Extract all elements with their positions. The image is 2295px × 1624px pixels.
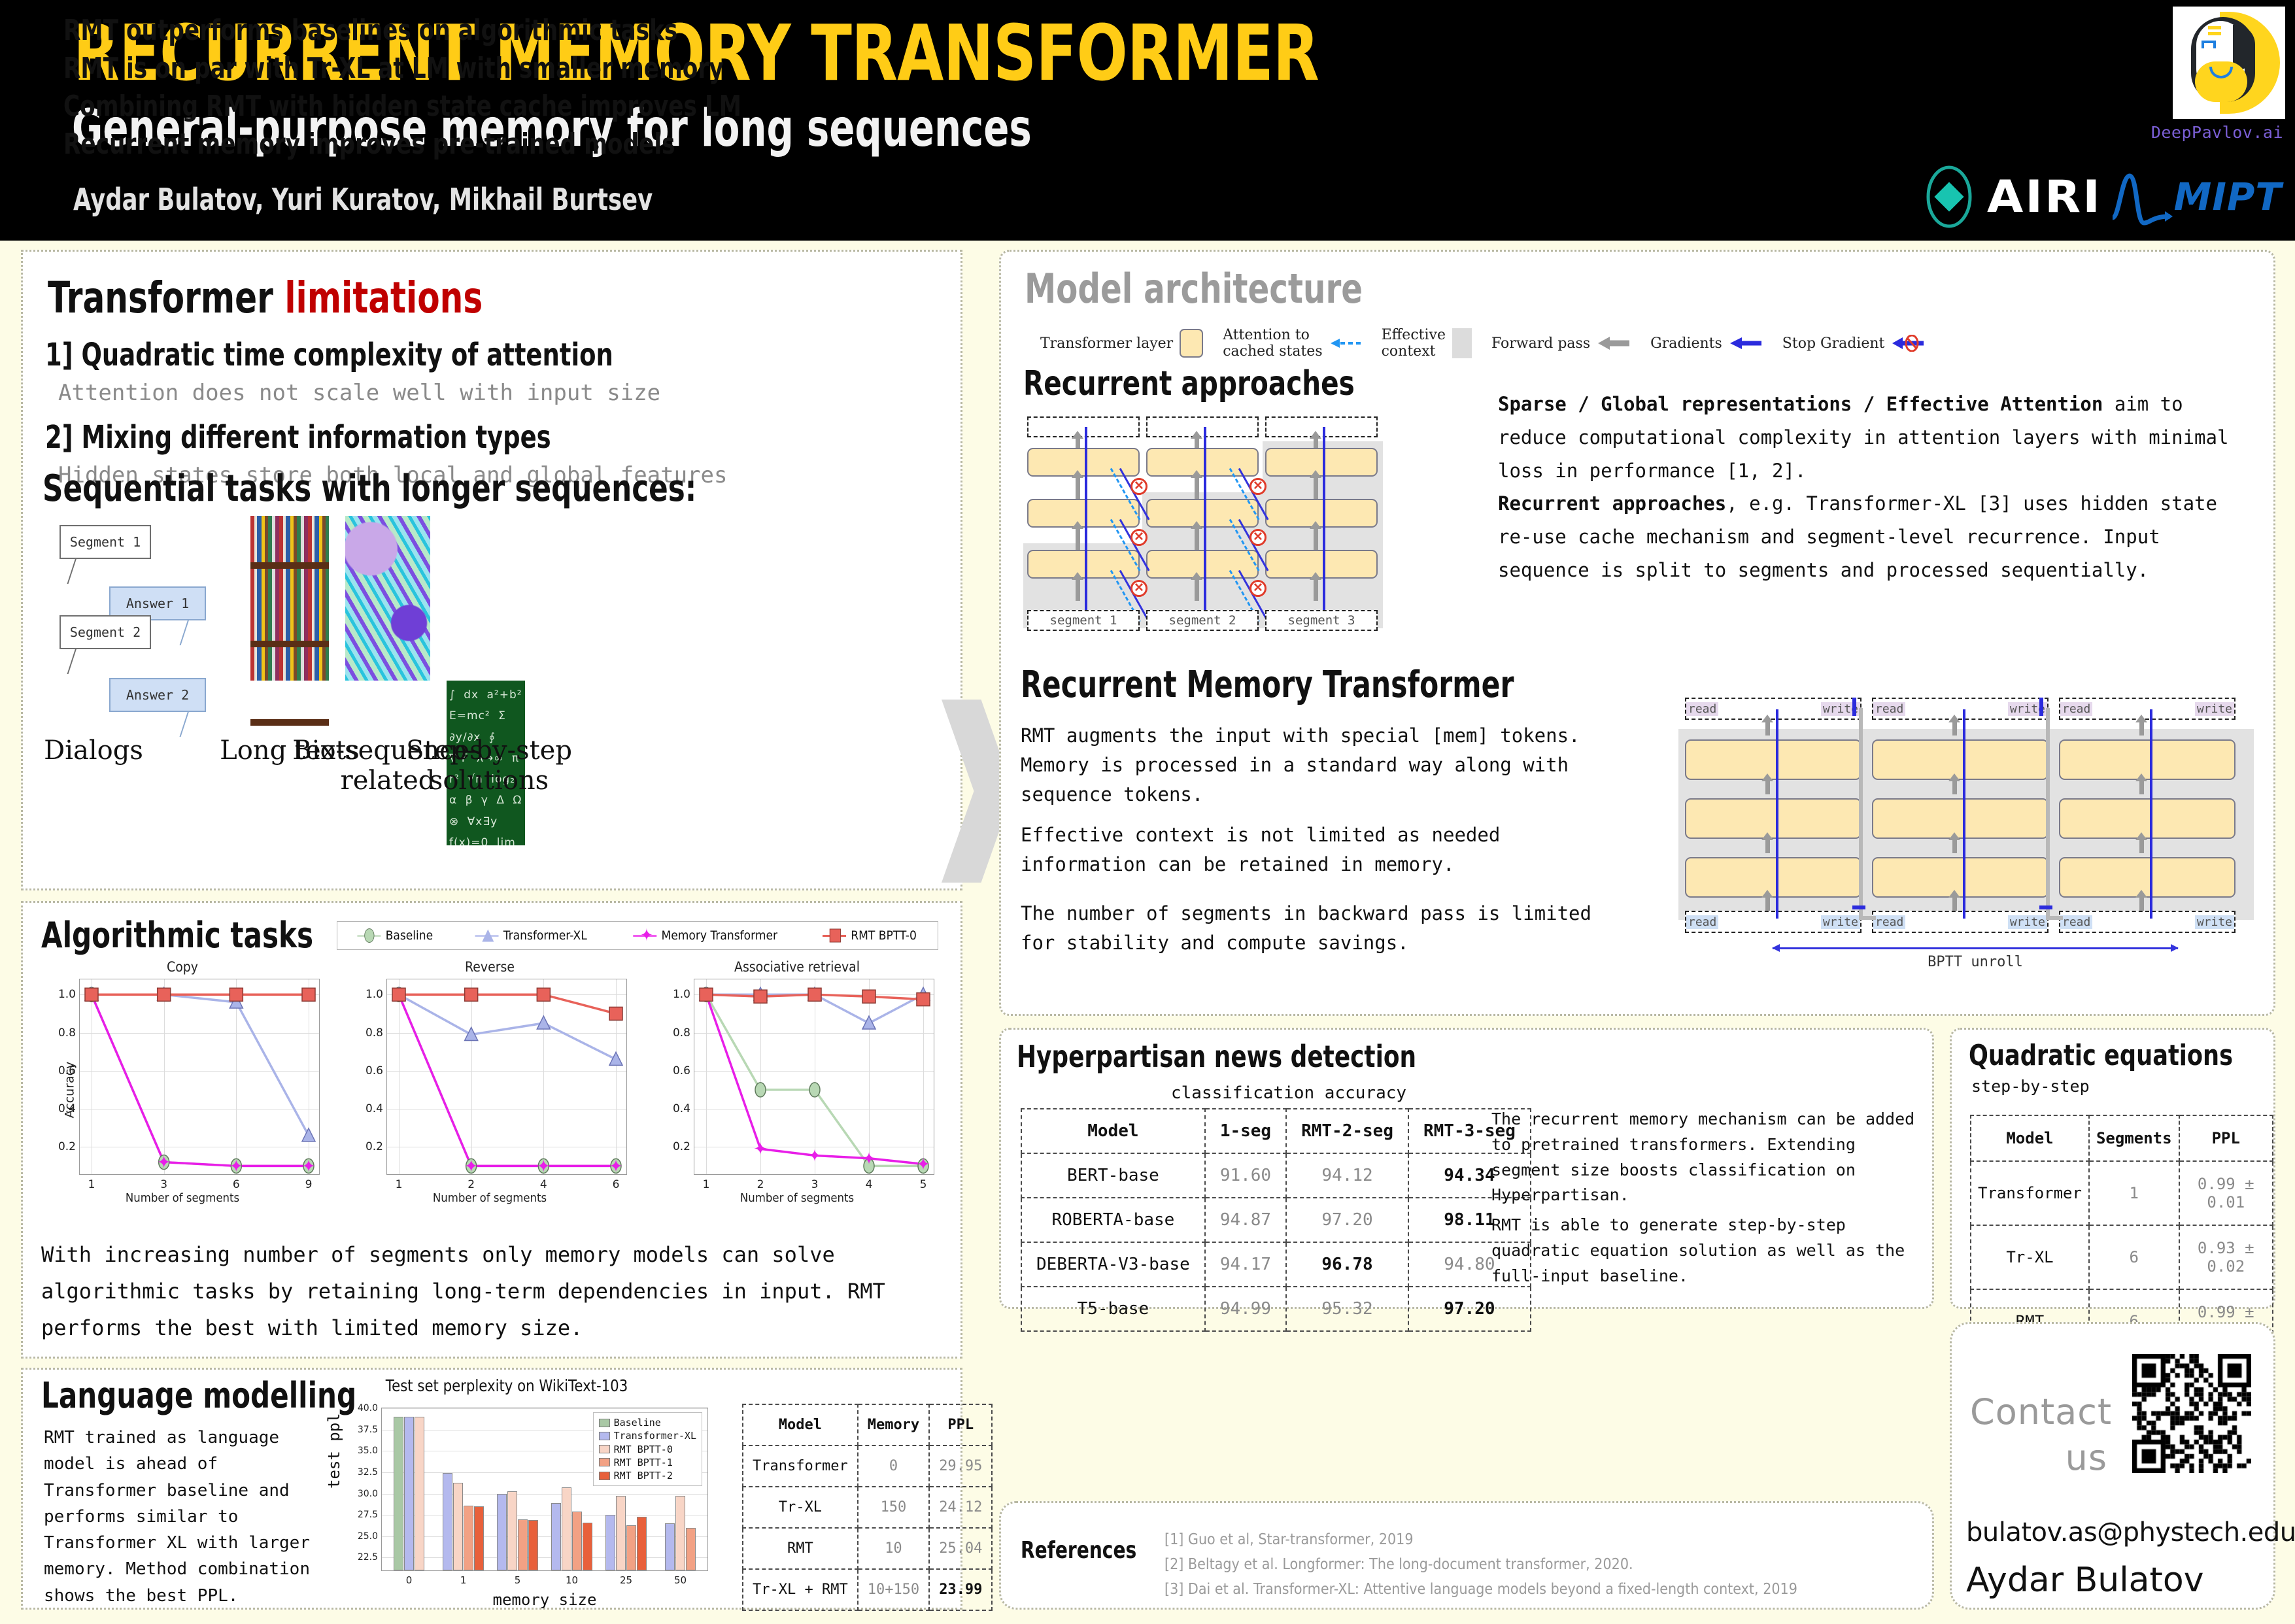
svg-text:✦: ✦	[753, 1139, 768, 1159]
forward-arrow	[1195, 528, 1199, 550]
x-tick-label: 9	[305, 1178, 313, 1191]
table-cell: RMT	[743, 1528, 858, 1569]
chart-title: Associative retrieval	[668, 959, 926, 975]
arch-desc-bold-2: Recurrent approaches	[1498, 492, 1726, 515]
table-cell: 96.78	[1286, 1242, 1408, 1287]
bar-rmt-bptt-0	[415, 1417, 424, 1570]
svg-text:✦: ✦	[464, 1156, 479, 1176]
table-cell: 94.17	[1205, 1242, 1286, 1287]
y-tick-label: 0.6	[673, 1064, 690, 1077]
qr-code-icon[interactable]	[2132, 1354, 2251, 1473]
y-tick-label: 1.0	[673, 988, 690, 1001]
output-box-3	[1265, 416, 1378, 437]
x-tick-label: 25	[620, 1574, 632, 1586]
table-cell: 10	[858, 1528, 929, 1569]
bar-transformer-xl	[551, 1503, 561, 1570]
legend-label-memory-transformer: Memory Transformer	[662, 928, 778, 943]
memory-cell-top-3: readwrite	[2059, 698, 2235, 720]
legend-transformer-layer: Transformer layer	[1040, 329, 1203, 358]
bar-rmt-bptt-0	[562, 1487, 571, 1570]
table-body: Transformer029.95Tr-XL15024.12RMT1025.04…	[743, 1446, 992, 1610]
y-tick-label: 1.0	[58, 988, 76, 1001]
bar-baseline	[394, 1417, 403, 1570]
caption-step-by-step: Step-by-step solutions	[391, 736, 587, 796]
limitation-1-heading: 1] Quadratic time complexity of attentio…	[45, 337, 613, 373]
bar-rmt-bptt-1	[626, 1525, 636, 1570]
legend-item-baseline: Baseline	[358, 928, 433, 943]
lm-bar-chart: 22.525.027.530.032.535.037.540.001510255…	[381, 1408, 708, 1571]
forward-arrow	[1076, 579, 1080, 601]
legend-item-transformer-xl: Transformer-XL	[475, 928, 587, 943]
table-row: Tr-XL + RMT10+15023.99	[743, 1569, 992, 1610]
forward-arrow	[1076, 437, 1080, 448]
y-tick-label: 0.6	[365, 1064, 383, 1077]
legend-attention-cached: Attention to cached states	[1223, 327, 1361, 360]
series-layer: ✦✦✦✦	[387, 979, 628, 1176]
forward-arrow	[1195, 437, 1199, 448]
forward-arrow	[1076, 477, 1080, 499]
table-head: ModelMemoryPPL	[743, 1404, 992, 1446]
memory-cell-bottom-2: readwrite	[1872, 911, 2048, 933]
language-modelling-text: RMT trained as language model is ahead o…	[44, 1425, 318, 1609]
language-modelling-panel: Language modelling RMT trained as langua…	[21, 1368, 962, 1610]
table-body: BERT-base91.6094.1294.34ROBERTA-base94.8…	[1021, 1153, 1531, 1331]
table-row: Tr-XL60.93 ± 0.02	[1971, 1225, 2273, 1289]
y-tick-label: 27.5	[358, 1510, 378, 1520]
rmt-gradient-line	[1963, 709, 1965, 919]
legend-label-baseline: Baseline	[386, 928, 433, 943]
reference-item-3: [3] Dai et al. Transformer-XL: Attentive…	[1164, 1578, 1841, 1602]
x-tick-label: 3	[811, 1178, 819, 1191]
lm-legend-swatch	[599, 1445, 610, 1453]
legend-item-rmt-bptt0: RMT BPTT-0	[823, 928, 917, 943]
legend-effective-line1: Effective	[1382, 327, 1446, 343]
algorithmic-note: With increasing number of segments only …	[41, 1236, 943, 1346]
transformer-limitations-panel: Transformer limitations 1] Quadratic tim…	[21, 250, 962, 890]
svg-text:✦: ✦	[807, 1145, 822, 1165]
poster-root: RECURRENT MEMORY TRANSFORMER General-pur…	[0, 0, 2295, 1624]
memory-cell-top-1: readwrite	[1685, 698, 1861, 720]
legend-forward-pass-label: Forward pass	[1491, 335, 1590, 352]
svg-text:✦: ✦	[916, 1155, 930, 1174]
plot-area: 0.20.40.60.81.01369✦✦✦✦	[79, 979, 320, 1175]
conclusion-text-1: RMT outperforms baselines on algorithmic…	[63, 14, 677, 47]
y-tick-label: 0.2	[365, 1140, 383, 1153]
contact-panel: Contact us bulatov.as@phystech.edu Aydar…	[1950, 1322, 2275, 1610]
chart-title: Reverse	[360, 959, 619, 975]
bar-rmt-bptt-2	[474, 1506, 484, 1570]
forward-arrow	[1314, 437, 1318, 448]
table-cell: Transformer	[743, 1446, 858, 1487]
lm-results-table: ModelMemoryPPLTransformer029.95Tr-XL1502…	[742, 1404, 993, 1611]
rmt-forward-arrow	[1952, 780, 1957, 794]
memory-gradient-h	[1852, 905, 1865, 909]
bar-rmt-bptt-1	[518, 1519, 528, 1570]
svg-text:✦: ✦	[157, 1153, 171, 1172]
forward-arrow	[1076, 528, 1080, 550]
y-tick-label: 0.2	[58, 1140, 76, 1153]
series-layer: ✦✦✦✦✦	[694, 979, 935, 1176]
y-tick-label: 1.0	[365, 988, 383, 1001]
rmt-segment-3-layer-2	[2059, 798, 2235, 839]
table-row: BERT-base91.6094.1294.34	[1021, 1153, 1531, 1198]
bar-transformer-xl	[443, 1473, 452, 1570]
architecture-description: Sparse / Global representations / Effect…	[1498, 388, 2256, 587]
chart-xlabel: Number of segments	[50, 1191, 315, 1205]
table-head: Model1-segRMT-2-segRMT-3-seg	[1021, 1109, 1531, 1153]
lm-legend-item: RMT BPTT-1	[599, 1456, 696, 1469]
lm-legend-swatch	[599, 1472, 610, 1480]
dialogs-illustration: Segment 1 Answer 1 Segment 2 Answer 2	[48, 516, 231, 686]
bptt-unroll-label: BPTT unroll	[1773, 954, 2178, 970]
chart-associative-retrieval: Associative retrieval0.20.40.60.81.01234…	[653, 959, 941, 1221]
hyperpartisan-title: Hyperpartisan news detection	[1017, 1039, 1416, 1074]
forward-arrow	[1195, 477, 1199, 499]
conclusion-text-4: Recurrent memory improves pre-trained mo…	[63, 127, 675, 161]
svg-text:✦: ✦	[536, 1156, 551, 1176]
svg-text:✦: ✦	[609, 1156, 623, 1176]
algorithmic-charts: Copy0.20.40.60.81.01369✦✦✦✦Number of seg…	[39, 959, 954, 1221]
legend-item-memory-transformer: ✦ Memory Transformer	[633, 928, 777, 943]
column-header: Segments	[2089, 1115, 2179, 1161]
bar-transformer-xl	[605, 1515, 615, 1570]
x-tick-label: 2	[757, 1178, 764, 1191]
table-row: ROBERTA-base94.8797.2098.11	[1021, 1198, 1531, 1242]
sequential-tasks-title: Sequential tasks with longer sequences:	[42, 467, 696, 510]
column-header: Model	[1971, 1115, 2089, 1161]
bar-transformer-xl	[665, 1523, 675, 1570]
rmt-segment-3-layer-1	[2059, 739, 2235, 780]
table-row: DEBERTA-V3-base94.1796.7894.80	[1021, 1242, 1531, 1287]
lm-legend-item: Transformer-XL	[599, 1429, 696, 1442]
y-tick-label: 0.4	[365, 1102, 383, 1115]
y-tick-label: 0.4	[673, 1102, 690, 1115]
gray-arrow-icon	[1597, 335, 1631, 351]
conclusion-text-3: Combining RMT with hidden state cache im…	[63, 90, 741, 123]
y-tick-label: 0.8	[365, 1026, 383, 1040]
sequential-tasks-images: Segment 1 Answer 1 Segment 2 Answer 2 Di…	[35, 513, 950, 840]
data-table: Model1-segRMT-2-segRMT-3-segBERT-base91.…	[1021, 1108, 1531, 1332]
bar-rmt-bptt-2	[583, 1523, 592, 1570]
mipt-pulse-icon	[2110, 165, 2173, 228]
column-header: 1-seg	[1205, 1109, 1286, 1153]
architecture-legend: Transformer layer Attention to cached st…	[1040, 324, 2237, 363]
limitations-title-red: limitations	[284, 273, 483, 323]
read-label-top-3: read	[2060, 702, 2092, 716]
hyperpartisan-note-1: The recurrent memory mechanism can be ad…	[1491, 1107, 1923, 1208]
legend-attention-line2: cached states	[1223, 343, 1322, 360]
x-tick-label: 3	[160, 1178, 167, 1191]
table-cell: 95.32	[1286, 1287, 1408, 1331]
column-header: Model	[743, 1404, 858, 1446]
legend-gradients-label: Gradients	[1650, 335, 1722, 352]
gridline	[382, 1494, 707, 1495]
table-cell: 10+150	[858, 1569, 929, 1610]
table-cell: 0.93 ± 0.02	[2179, 1225, 2273, 1289]
table-cell: 97.20	[1408, 1287, 1531, 1331]
legend-stop-gradient: Stop Gradient	[1782, 335, 1928, 352]
table-cell: 0	[858, 1446, 929, 1487]
memory-gradient-up	[2039, 698, 2043, 716]
arch-desc-bold-1: Sparse / Global representations / Effect…	[1498, 393, 2103, 415]
quadratic-equations-panel: Quadratic equations step-by-step ModelSe…	[1950, 1028, 2275, 1309]
bubble-answer-2: Answer 2	[109, 678, 206, 712]
contact-name: Aydar Bulatov	[1966, 1561, 2204, 1600]
reference-item-1: [1] Guo et al, Star-transformer, 2019	[1164, 1528, 1841, 1553]
stop-gradient-icon: ✕	[1249, 478, 1266, 495]
stop-gradient-icon: ✕	[1130, 478, 1147, 495]
lm-legend-item: Baseline	[599, 1416, 696, 1429]
chart-xlabel: Number of segments	[358, 1191, 622, 1205]
output-box-2	[1146, 416, 1259, 437]
mipt-logo: MIPT	[2110, 165, 2282, 228]
bar-rmt-bptt-1	[464, 1506, 473, 1570]
algorithmic-tasks-panel: Algorithmic tasks Baseline Transformer-X…	[21, 901, 962, 1359]
rmt-diagram: readwritereadwritereadwritereadwriteread…	[1674, 683, 2263, 971]
hyperpartisan-panel: Hyperpartisan news detection classificat…	[999, 1028, 1934, 1309]
y-tick-label: 0.2	[673, 1140, 690, 1153]
table-cell: 23.99	[929, 1569, 992, 1610]
table-cell: 29.95	[929, 1446, 992, 1487]
bio-sequences-image	[345, 516, 430, 681]
airi-mark-icon	[1924, 165, 1974, 228]
lm-legend-item: RMT BPTT-2	[599, 1469, 696, 1482]
bar-rmt-bptt-1	[686, 1528, 696, 1570]
sponsor-logos: AIRI MIPT	[1924, 162, 2282, 231]
x-tick-label: 5	[920, 1178, 927, 1191]
table-cell: 94.99	[1205, 1287, 1286, 1331]
rmt-segment-2-layer-1	[1872, 739, 2048, 780]
table-cell: 24.12	[929, 1487, 992, 1528]
limitation-2-heading: 2] Mixing different information types	[45, 419, 551, 456]
column-header: PPL	[2179, 1115, 2273, 1161]
legend-label-rmt-bptt0: RMT BPTT-0	[851, 928, 917, 943]
gradient-line	[1204, 427, 1206, 617]
legend-gradients: Gradients	[1650, 335, 1763, 352]
rmt-gradient-line	[1776, 709, 1778, 919]
table-cell: ROBERTA-base	[1021, 1198, 1205, 1242]
segment-3-layer-1	[1265, 448, 1378, 477]
rmt-segment-1-layer-2	[1685, 798, 1861, 839]
quadratic-table: ModelSegmentsPPLTransformer10.99 ± 0.01T…	[1970, 1115, 2273, 1354]
table-header-row: ModelMemoryPPL	[743, 1404, 992, 1446]
limitation-1-desc: Attention does not scale well with input…	[58, 380, 660, 406]
segment-3-layer-3	[1265, 550, 1378, 579]
gray-box-swatch-icon	[1452, 328, 1472, 358]
bptt-unroll-arrow	[1773, 947, 2178, 949]
airi-label: AIRI	[1987, 171, 2102, 223]
rmt-segment-1-layer-3	[1685, 857, 1861, 898]
lm-chart-ylabel: test ppl	[325, 1413, 343, 1489]
legend-effective-line2: context	[1382, 343, 1446, 360]
output-box-1	[1027, 416, 1140, 437]
bar-rmt-bptt-2	[637, 1517, 647, 1570]
table-cell: Tr-XL + RMT	[743, 1569, 858, 1610]
x-tick-label: 6	[613, 1178, 620, 1191]
read-label-bottom-1: read	[1686, 915, 1718, 929]
x-tick-label: 6	[233, 1178, 240, 1191]
memory-gradient-h	[2039, 905, 2052, 909]
table-row: Transformer10.99 ± 0.01	[1971, 1161, 2273, 1225]
read-label-top-1: read	[1686, 702, 1718, 716]
gridline	[382, 1515, 707, 1515]
rmt-title: Recurrent Memory Transformer	[1021, 664, 1514, 706]
y-tick-label: 37.5	[358, 1425, 378, 1435]
gradient-line	[1323, 427, 1325, 617]
x-tick-label: 4	[866, 1178, 873, 1191]
lm-legend-swatch	[599, 1419, 610, 1427]
y-tick-label: 35.0	[358, 1446, 378, 1456]
deeppavlov-logo-icon	[2173, 7, 2285, 119]
contact-label: Contact us	[1970, 1389, 2107, 1481]
table-cell: Tr-XL	[1971, 1225, 2089, 1289]
rmt-forward-arrow	[1765, 721, 1770, 736]
legend-attention-line1: Attention to	[1223, 327, 1322, 343]
lm-chart-xlabel: memory size	[381, 1591, 708, 1609]
bar-rmt-bptt-0	[616, 1496, 626, 1570]
bar-rmt-bptt-0	[507, 1491, 517, 1570]
data-table: ModelSegmentsPPLTransformer10.99 ± 0.01T…	[1970, 1115, 2273, 1354]
svg-text:✦: ✦	[229, 1156, 243, 1176]
transformer-xl-marker-icon	[483, 930, 494, 942]
rmt-forward-arrow	[1765, 780, 1770, 794]
data-table: ModelMemoryPPLTransformer029.95Tr-XL1502…	[742, 1404, 993, 1611]
chart-xlabel: Number of segments	[665, 1191, 930, 1205]
recurrent-approaches-title: Recurrent approaches	[1023, 364, 1355, 403]
chart-title: Copy	[53, 959, 312, 975]
y-tick-label: 25.0	[358, 1531, 378, 1542]
caption-dialogs: Dialogs	[0, 736, 192, 766]
blue-arrow-icon	[1729, 335, 1763, 351]
contact-label-line1: Contact	[1970, 1389, 2107, 1435]
write-label-top-3: write	[2195, 702, 2234, 716]
table-header-row: Model1-segRMT-2-segRMT-3-seg	[1021, 1109, 1531, 1153]
x-tick-label: 4	[540, 1178, 547, 1191]
lm-chart-title: Test set perplexity on WikiText-103	[357, 1376, 657, 1395]
contact-email[interactable]: bulatov.as@phystech.edu	[1966, 1517, 2295, 1548]
lm-legend-label: Transformer-XL	[614, 1429, 696, 1442]
y-tick-label: 22.5	[358, 1552, 378, 1563]
segment-label-1: segment 1	[1027, 610, 1140, 631]
rmt-forward-arrow	[1765, 896, 1770, 911]
bar-rmt-bptt-2	[528, 1520, 538, 1570]
model-architecture-panel: Model architecture Transformer layer Att…	[999, 250, 2275, 1016]
rmt-segment-2-layer-3	[1872, 857, 2048, 898]
table-cell: BERT-base	[1021, 1153, 1205, 1198]
legend-transformer-layer-label: Transformer layer	[1040, 335, 1173, 352]
x-tick-label: 1	[88, 1178, 95, 1191]
memory-recurrence-line	[2046, 708, 2050, 919]
references-label: References	[1021, 1537, 1136, 1564]
table-row: RMT1025.04	[743, 1528, 992, 1569]
memory-cell-top-2: readwrite	[1872, 698, 2048, 720]
recurrent-approaches-diagram: ✕✕✕✕✕✕segment 1segment 2segment 3	[1018, 405, 1450, 640]
bar-rmt-bptt-0	[453, 1483, 463, 1570]
series-layer: ✦✦✦✦	[80, 979, 320, 1176]
x-tick-label: 50	[674, 1574, 687, 1586]
svg-text:✦: ✦	[862, 1149, 876, 1168]
bar-rmt-bptt-0	[675, 1496, 685, 1570]
references-panel: References [1] Guo et al, Star-transform…	[999, 1501, 1934, 1610]
dashed-blue-arrow-icon	[1329, 336, 1362, 350]
quadratic-title: Quadratic equations	[1969, 1039, 2233, 1072]
rmt-forward-arrow	[2139, 721, 2144, 736]
y-tick-label: 0.8	[58, 1026, 76, 1040]
y-tick-label: 40.0	[358, 1403, 378, 1413]
lm-chart-legend: BaselineTransformer-XLRMT BPTT-0RMT BPTT…	[593, 1412, 702, 1486]
plot-area: 0.20.40.60.81.012345✦✦✦✦✦	[694, 979, 934, 1175]
legend-effective-context: Effective context	[1382, 327, 1472, 360]
write-label-bottom-3: write	[2195, 915, 2234, 929]
x-tick-label: 2	[467, 1178, 475, 1191]
contact-label-line2: us	[1970, 1435, 2107, 1481]
algorithmic-legend: Baseline Transformer-XL ✦ Memory Transfo…	[337, 921, 938, 950]
write-label-bottom-1: write	[1821, 915, 1860, 929]
stop-gradient-icon: ✕	[1249, 580, 1266, 597]
baseline-marker-icon	[364, 928, 374, 943]
segment-label-2: segment 2	[1146, 610, 1259, 631]
transformer-layer-swatch-icon	[1180, 329, 1203, 358]
table-cell: 150	[858, 1487, 929, 1528]
forward-arrow	[1314, 477, 1318, 499]
read-label-top-2: read	[1873, 702, 1905, 716]
deeppavlov-label: DeepPavlov.ai	[2151, 123, 2283, 142]
y-tick-label: 30.0	[358, 1489, 378, 1499]
table-row: Tr-XL15024.12	[743, 1487, 992, 1528]
legend-label-transformer-xl: Transformer-XL	[503, 928, 587, 943]
stop-gradient-icon: ✕	[1130, 529, 1147, 546]
rmt-para-2: Effective context is not limited as need…	[1021, 820, 1635, 879]
memory-cell-bottom-1: readwrite	[1685, 911, 1861, 933]
lm-legend-swatch	[599, 1432, 610, 1440]
rmt-forward-arrow	[2139, 780, 2144, 794]
write-label-bottom-2: write	[2008, 915, 2047, 929]
stop-gradient-icon	[1891, 335, 1928, 352]
column-header: PPL	[929, 1404, 992, 1446]
lm-legend-label: RMT BPTT-1	[614, 1456, 673, 1469]
x-tick-label: 1	[396, 1178, 403, 1191]
rmt-forward-arrow	[1765, 839, 1770, 853]
rmt-segment-1-layer-1	[1685, 739, 1861, 780]
x-tick-label: 10	[566, 1574, 578, 1586]
limitations-title-black: Transformer	[48, 273, 284, 323]
rmt-forward-arrow	[1952, 839, 1957, 853]
bar-rmt-bptt-1	[572, 1512, 582, 1570]
references-list: [1] Guo et al, Star-transformer, 2019 [2…	[1164, 1528, 1841, 1602]
gradient-line	[1085, 427, 1087, 617]
forward-arrow	[1314, 579, 1318, 601]
bubble-segment-2: Segment 2	[59, 615, 151, 649]
rmt-segment-3-layer-3	[2059, 857, 2235, 898]
authors-line: Aydar Bulatov, Yuri Kuratov, Mikhail Bur…	[73, 182, 653, 217]
memory-recurrence-line	[1859, 708, 1863, 919]
table-cell: Transformer	[1971, 1161, 2089, 1225]
table-cell: 1	[2089, 1161, 2179, 1225]
rmt-bptt0-marker-icon	[830, 929, 841, 943]
language-modelling-title: Language modelling	[41, 1375, 356, 1416]
bubble-segment-1: Segment 1	[59, 525, 151, 559]
y-tick-label: 32.5	[358, 1467, 378, 1478]
chart-ylabel: Accuracy	[62, 1062, 76, 1119]
table-cell: 0.99 ± 0.01	[2179, 1161, 2273, 1225]
read-label-bottom-3: read	[2060, 915, 2092, 929]
limitations-title: Transformer limitations	[48, 273, 483, 323]
rmt-forward-arrow	[1952, 721, 1957, 736]
rmt-para-3: The number of segments in backward pass …	[1021, 899, 1635, 958]
column-header: Memory	[858, 1404, 929, 1446]
model-architecture-title: Model architecture	[1025, 265, 1363, 313]
lm-legend-label: RMT BPTT-2	[614, 1469, 673, 1482]
